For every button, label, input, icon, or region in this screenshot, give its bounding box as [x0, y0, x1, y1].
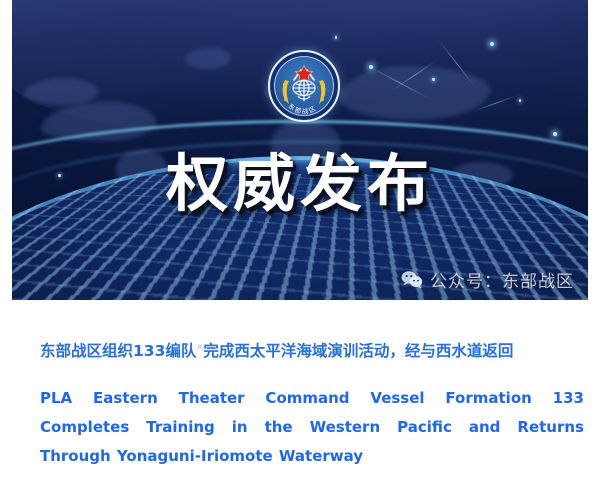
wheat-ear-left	[283, 80, 290, 104]
search-icon[interactable]: ⌕	[197, 342, 202, 352]
wheat-ear-right	[319, 80, 326, 104]
watermark: 公众号：东部战区	[401, 267, 574, 292]
red-star	[296, 66, 313, 82]
network-node	[432, 78, 435, 81]
article-headline-cn: 东部战区组织133编队⌕完成西太平洋海域演训活动，经与西水道返回	[0, 336, 600, 362]
article-body: 东部战区组织133编队⌕完成西太平洋海域演训活动，经与西水道返回 PLA Eas…	[0, 300, 600, 471]
wechat-icon	[401, 270, 423, 289]
network-link	[438, 39, 476, 87]
network-node	[519, 99, 522, 102]
emblem-artwork: 东部战区	[268, 50, 340, 122]
pla-eastern-theater-command-emblem: 东部战区	[268, 50, 340, 122]
globe-anchor-motif	[293, 81, 315, 96]
watermark-label: 公众号：东部战区	[430, 267, 574, 292]
network-link	[392, 60, 437, 91]
network-node	[369, 65, 373, 69]
network-link	[473, 95, 518, 112]
network-node	[490, 42, 494, 46]
anchor-flourish	[298, 95, 310, 101]
network-node	[335, 36, 338, 39]
article-headline-en: PLA Eastern Theater Command Vessel Forma…	[0, 384, 600, 471]
emblem-curved-text: 东部战区	[287, 101, 319, 116]
banner-image: 东部战区 权威发布 公众号：东部战区	[12, 0, 588, 300]
banner-headline-cn: 权威发布	[12, 133, 588, 223]
headline-cn-segment-2: 完成西太平洋海域演训活动，经与西水道返回	[203, 342, 513, 360]
headline-cn-segment-1: 东部战区组织133编队	[40, 342, 196, 360]
